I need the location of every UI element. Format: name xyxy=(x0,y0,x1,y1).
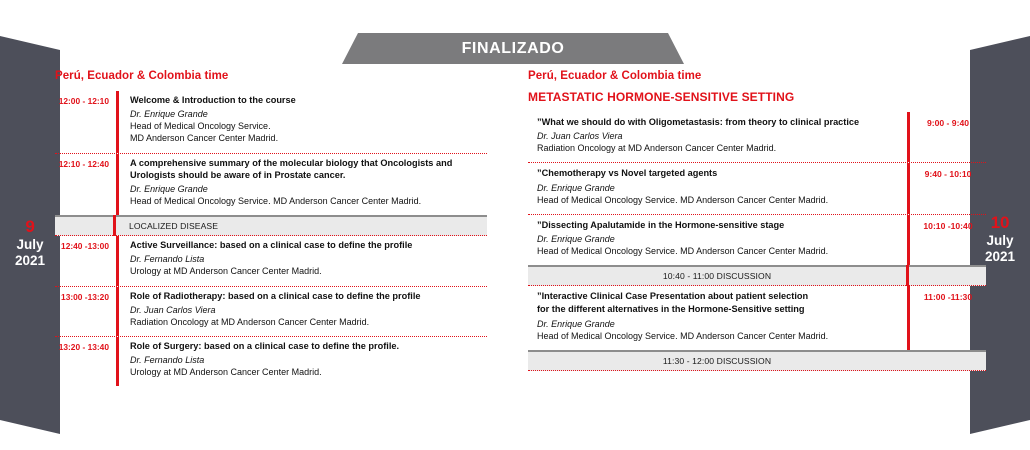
agenda-row-speaker: Dr. Enrique Grande xyxy=(537,318,897,330)
agenda-row-body: ”Dissecting Apalutamide in the Hormone-s… xyxy=(528,215,907,265)
date-tab-day1-inner: 9 July 2021 xyxy=(0,217,60,269)
agenda-row-time: 9:40 - 10:10 xyxy=(910,163,986,179)
agenda-row-time: 12:10 - 12:40 xyxy=(55,154,116,169)
discussion-band-1: 10:40 - 11:00 DISCUSSION xyxy=(528,265,986,286)
agenda-row-time: 12:00 - 12:10 xyxy=(55,91,116,106)
agenda-row-title: ”Interactive Clinical Case Presentation … xyxy=(537,290,897,302)
agenda-row-title: ”Dissecting Apalutamide in the Hormone-s… xyxy=(537,219,897,231)
timezone-header-day1: Perú, Ecuador & Colombia time xyxy=(55,70,487,82)
agenda-row[interactable]: ”Dissecting Apalutamide in the Hormone-s… xyxy=(528,215,986,265)
agenda-row[interactable]: 12:00 - 12:10 Welcome & Introduction to … xyxy=(55,91,487,154)
agenda-row[interactable]: ”Chemotherapy vs Novel targeted agents D… xyxy=(528,163,986,214)
agenda-row-time: 9:00 - 9:40 xyxy=(910,112,986,128)
agenda-row-title: Role of Radiotherapy: based on a clinica… xyxy=(130,290,487,302)
agenda-row-title: ”What we should do with Oligometastasis:… xyxy=(537,116,897,128)
agenda-row-time: 10:10 -10:40 xyxy=(910,215,986,231)
agenda-row-speaker: Dr. Fernando Lista xyxy=(130,253,487,265)
agenda-row-body: Role of Surgery: based on a clinical cas… xyxy=(119,337,487,386)
section-band-label: LOCALIZED DISEASE xyxy=(55,221,218,231)
agenda-row[interactable]: 13:20 - 13:40 Role of Surgery: based on … xyxy=(55,337,487,386)
agenda-row-time: 13:20 - 13:40 xyxy=(55,337,116,352)
discussion-band-1-label: 10:40 - 11:00 DISCUSSION xyxy=(528,271,986,281)
agenda-row-speaker: Dr. Enrique Grande xyxy=(537,233,897,245)
agenda-row-affiliation: Urology at MD Anderson Cancer Center Mad… xyxy=(130,366,487,378)
agenda-row-affiliation: Head of Medical Oncology Service. MD And… xyxy=(537,330,897,342)
agenda-row-body: ”Chemotherapy vs Novel targeted agents D… xyxy=(528,163,907,213)
section-band-localized-disease: LOCALIZED DISEASE xyxy=(55,215,487,236)
agenda-row-time: 12:40 -13:00 xyxy=(55,236,116,251)
agenda-row-speaker: Dr. Enrique Grande xyxy=(130,183,487,195)
agenda-row-affiliation: Head of Medical Oncology Service. MD And… xyxy=(130,195,487,207)
agenda-row-body: ”Interactive Clinical Case Presentation … xyxy=(528,286,907,350)
agenda-row[interactable]: 12:40 -13:00 Active Surveillance: based … xyxy=(55,236,487,286)
agenda-row-time: 13:00 -13:20 xyxy=(55,287,116,302)
agenda-column-day1: Perú, Ecuador & Colombia time 12:00 - 12… xyxy=(55,70,487,386)
agenda-row-body: A comprehensive summary of the molecular… xyxy=(119,154,487,216)
agenda-row-body: ”What we should do with Oligometastasis:… xyxy=(528,112,907,162)
agenda-row-speaker: Dr. Juan Carlos Viera xyxy=(537,130,897,142)
section-title-metastatic: METASTATIC HORMONE-SENSITIVE SETTING xyxy=(528,90,986,104)
date-tab-day1-day: 9 xyxy=(0,217,60,237)
status-banner: FINALIZADO xyxy=(342,33,684,64)
date-tab-day1-year: 2021 xyxy=(0,253,60,269)
agenda-row-title: ”Chemotherapy vs Novel targeted agents xyxy=(537,167,897,179)
agenda-row-affiliation: Radiation Oncology at MD Anderson Cancer… xyxy=(537,142,897,154)
agenda-row-affiliation: Radiation Oncology at MD Anderson Cancer… xyxy=(130,316,487,328)
agenda-row-affiliation: Head of Medical Oncology Service. xyxy=(130,120,487,132)
agenda-row-title: Role of Surgery: based on a clinical cas… xyxy=(130,340,487,352)
timezone-header-day2: Perú, Ecuador & Colombia time xyxy=(528,70,986,82)
agenda-row-affiliation: Head of Medical Oncology Service. MD And… xyxy=(537,194,897,206)
agenda-row-title: Welcome & Introduction to the course xyxy=(130,94,487,106)
agenda-page: 9 July 2021 10 July 2021 FINALIZADO Perú… xyxy=(0,0,1030,450)
agenda-row-title: Active Surveillance: based on a clinical… xyxy=(130,239,487,251)
agenda-column-day2: Perú, Ecuador & Colombia time METASTATIC… xyxy=(528,70,986,371)
agenda-row-body: Role of Radiotherapy: based on a clinica… xyxy=(119,287,487,336)
agenda-row-affiliation-2: MD Anderson Cancer Center Madrid. xyxy=(130,132,487,144)
agenda-row-speaker: Dr. Juan Carlos Viera xyxy=(130,304,487,316)
red-accent-bar xyxy=(113,215,116,236)
date-tab-day1: 9 July 2021 xyxy=(0,36,60,434)
agenda-row-title: A comprehensive summary of the molecular… xyxy=(130,157,487,181)
agenda-row-speaker: Dr. Enrique Grande xyxy=(537,182,897,194)
agenda-row-affiliation: Urology at MD Anderson Cancer Center Mad… xyxy=(130,265,487,277)
agenda-row-title-2: for the different alternatives in the Ho… xyxy=(537,303,897,315)
date-tab-day1-month: July xyxy=(0,237,60,253)
agenda-row[interactable]: ”Interactive Clinical Case Presentation … xyxy=(528,286,986,350)
agenda-row-time: 11:00 -11:30 xyxy=(910,286,986,302)
agenda-row[interactable]: ”What we should do with Oligometastasis:… xyxy=(528,112,986,163)
discussion-band-2: 11:30 - 12:00 DISCUSSION xyxy=(528,350,986,371)
agenda-row-body: Welcome & Introduction to the course Dr.… xyxy=(119,91,487,153)
agenda-row-affiliation: Head of Medical Oncology Service. MD And… xyxy=(537,245,897,257)
agenda-row[interactable]: 13:00 -13:20 Role of Radiotherapy: based… xyxy=(55,287,487,337)
discussion-band-2-label: 11:30 - 12:00 DISCUSSION xyxy=(528,356,986,366)
red-accent-bar xyxy=(906,265,909,286)
agenda-row-speaker: Dr. Fernando Lista xyxy=(130,354,487,366)
agenda-row-body: Active Surveillance: based on a clinical… xyxy=(119,236,487,285)
agenda-row-speaker: Dr. Enrique Grande xyxy=(130,108,487,120)
agenda-row[interactable]: 12:10 - 12:40 A comprehensive summary of… xyxy=(55,154,487,216)
